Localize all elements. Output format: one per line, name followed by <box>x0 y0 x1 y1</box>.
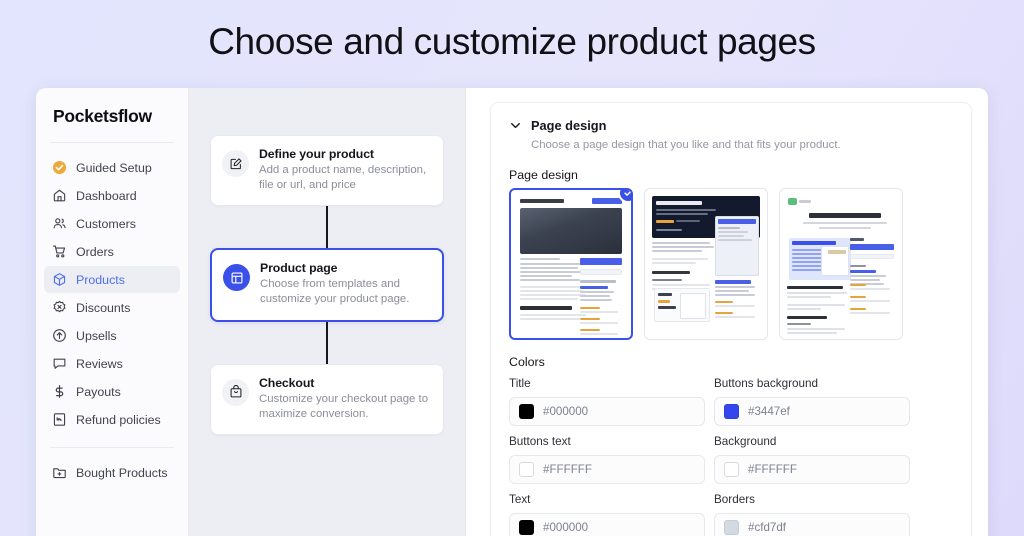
sidebar-item-payouts[interactable]: Payouts <box>44 378 180 405</box>
color-field-label: Text <box>509 493 705 506</box>
color-value: #000000 <box>543 521 588 534</box>
sidebar-item-bought-products[interactable]: Bought Products <box>44 459 180 486</box>
sidebar-item-label: Products <box>76 273 125 287</box>
color-value: #3447ef <box>748 405 790 418</box>
color-input-text[interactable]: #000000 <box>509 513 705 536</box>
colors-label: Colors <box>509 355 953 369</box>
sidebar-divider-bottom <box>50 447 174 448</box>
content-area: Page design Choose a page design that yo… <box>466 88 988 536</box>
sidebar-item-upsells[interactable]: Upsells <box>44 322 180 349</box>
color-field-label: Background <box>714 435 910 448</box>
color-input-borders[interactable]: #cfd7df <box>714 513 910 536</box>
panel-subtitle: Choose a page design that you like and t… <box>531 139 953 151</box>
color-input-buttons-background[interactable]: #3447ef <box>714 397 910 426</box>
sidebar-item-label: Upsells <box>76 329 117 343</box>
color-swatch[interactable] <box>724 462 739 477</box>
step-card-product-page[interactable]: Product page Choose from templates and c… <box>210 248 444 321</box>
users-icon <box>52 216 67 231</box>
color-swatch[interactable] <box>724 520 739 535</box>
template-preview-1 <box>514 193 628 335</box>
color-input-background[interactable]: #FFFFFF <box>714 455 910 484</box>
sidebar: Pocketsflow Guided Setup Dashboard Custo… <box>36 88 189 536</box>
page-design-label: Page design <box>509 168 953 182</box>
refund-icon <box>52 412 67 427</box>
step-connector-2 <box>326 322 328 364</box>
sidebar-item-label: Discounts <box>76 301 130 315</box>
sidebar-item-label: Customers <box>76 217 136 231</box>
color-field-background: Background #FFFFFF <box>714 435 910 484</box>
bag-icon <box>222 379 249 406</box>
sidebar-divider-top <box>50 142 174 143</box>
sidebar-item-customers[interactable]: Customers <box>44 210 180 237</box>
sidebar-item-label: Reviews <box>76 357 123 371</box>
template-thumbnails <box>509 188 953 340</box>
color-field-label: Buttons background <box>714 377 910 390</box>
app-window: Pocketsflow Guided Setup Dashboard Custo… <box>36 88 988 536</box>
step-title: Define your product <box>259 147 431 161</box>
template-thumbnail-2[interactable] <box>644 188 768 340</box>
steps-column: Define your product Add a product name, … <box>189 88 466 536</box>
step-title: Checkout <box>259 376 431 390</box>
color-value: #cfd7df <box>748 521 786 534</box>
sidebar-item-label: Guided Setup <box>76 161 152 175</box>
home-icon <box>52 188 67 203</box>
color-field-label: Borders <box>714 493 910 506</box>
dollar-icon <box>52 384 67 399</box>
color-field-label: Buttons text <box>509 435 705 448</box>
chevron-down-icon[interactable] <box>509 119 522 132</box>
step-description: Choose from templates and customize your… <box>260 277 430 307</box>
color-field-label: Title <box>509 377 705 390</box>
step-card-checkout[interactable]: Checkout Customize your checkout page to… <box>210 364 444 435</box>
color-input-title[interactable]: #000000 <box>509 397 705 426</box>
panel-header[interactable]: Page design <box>509 118 953 133</box>
sidebar-item-reviews[interactable]: Reviews <box>44 350 180 377</box>
color-value: #FFFFFF <box>543 463 592 476</box>
sidebar-item-guided-setup[interactable]: Guided Setup <box>44 154 180 181</box>
page-design-panel: Page design Choose a page design that yo… <box>490 102 972 536</box>
color-field-title: Title #000000 <box>509 377 705 426</box>
folder-plus-icon <box>52 465 67 480</box>
step-card-define-product[interactable]: Define your product Add a product name, … <box>210 135 444 206</box>
color-field-borders: Borders #cfd7df <box>714 493 910 536</box>
edit-square-icon <box>222 150 249 177</box>
sidebar-item-dashboard[interactable]: Dashboard <box>44 182 180 209</box>
color-field-buttons-background: Buttons background #3447ef <box>714 377 910 426</box>
color-swatch[interactable] <box>519 404 534 419</box>
discount-icon <box>52 300 67 315</box>
layout-icon <box>223 264 250 291</box>
brand-logo: Pocketsflow <box>36 106 188 127</box>
step-description: Add a product name, description, file or… <box>259 163 431 193</box>
template-thumbnail-1[interactable] <box>509 188 633 340</box>
cart-icon <box>52 244 67 259</box>
color-value: #000000 <box>543 405 588 418</box>
sidebar-item-products[interactable]: Products <box>44 266 180 293</box>
template-preview-2 <box>648 192 764 336</box>
page-title: Choose and customize product pages <box>0 0 1024 63</box>
color-value: #FFFFFF <box>748 463 797 476</box>
color-field-buttons-text: Buttons text #FFFFFF <box>509 435 705 484</box>
color-field-text: Text #000000 <box>509 493 705 536</box>
sidebar-item-refund-policies[interactable]: Refund policies <box>44 406 180 433</box>
template-preview-3 <box>783 192 899 336</box>
panel-title: Page design <box>531 118 606 133</box>
arrow-up-circle-icon <box>52 328 67 343</box>
sidebar-item-label: Orders <box>76 245 114 259</box>
sidebar-item-label: Bought Products <box>76 466 168 480</box>
chat-icon <box>52 356 67 371</box>
color-swatch[interactable] <box>724 404 739 419</box>
sidebar-item-orders[interactable]: Orders <box>44 238 180 265</box>
sidebar-item-label: Payouts <box>76 385 121 399</box>
box-icon <box>52 272 67 287</box>
color-swatch[interactable] <box>519 462 534 477</box>
sidebar-item-label: Dashboard <box>76 189 137 203</box>
step-title: Product page <box>260 261 430 275</box>
colors-grid: Title #000000 Buttons background #3447ef… <box>509 377 953 536</box>
sidebar-item-label: Refund policies <box>76 413 161 427</box>
color-swatch[interactable] <box>519 520 534 535</box>
template-thumbnail-3[interactable] <box>779 188 903 340</box>
color-input-buttons-text[interactable]: #FFFFFF <box>509 455 705 484</box>
sidebar-item-discounts[interactable]: Discounts <box>44 294 180 321</box>
check-circle-icon <box>52 160 67 175</box>
step-description: Customize your checkout page to maximize… <box>259 392 431 422</box>
step-connector-1 <box>326 206 328 248</box>
